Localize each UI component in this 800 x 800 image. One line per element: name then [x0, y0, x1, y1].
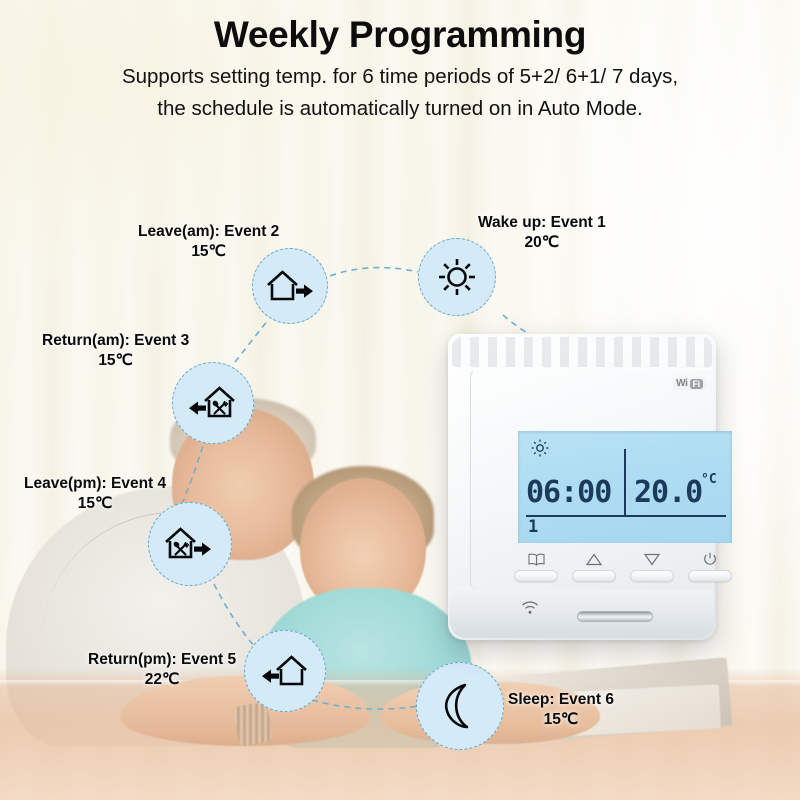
wifi-signal-icon — [521, 601, 539, 620]
wifi-badge-wi: Wi — [676, 378, 688, 389]
connector-e3-e2 — [235, 320, 268, 362]
event-label-text: Leave(pm): Event 4 — [24, 475, 166, 492]
promo-image-root: Weekly Programming Supports setting temp… — [0, 0, 800, 800]
page-subtitle-line-2: the schedule is automatically turned on … — [0, 93, 800, 124]
header-block: Weekly Programming Supports setting temp… — [0, 14, 800, 124]
indicator-slot — [577, 611, 653, 622]
connector-e5-e6 — [312, 700, 418, 709]
event-label-text: Return(pm): Event 5 — [88, 651, 236, 668]
thermostat-device: Wi Fi — [448, 334, 716, 640]
lcd-time-value: 06:00 — [526, 475, 611, 510]
moon-icon — [438, 682, 482, 730]
lcd-temperature-unit: °C — [701, 472, 717, 487]
connector-e2-e1 — [320, 268, 418, 280]
sun-icon — [531, 439, 549, 457]
up-key[interactable] — [572, 570, 616, 582]
thermostat-top-bezel — [452, 337, 712, 367]
house-arrow-right-icon — [263, 266, 317, 306]
lcd-temperature-value: 20.0 — [634, 475, 702, 510]
event-label-return-am: Return(am): Event 3 15℃ — [42, 331, 189, 371]
event-label-return-pm: Return(pm): Event 5 22℃ — [88, 650, 236, 690]
event-label-leave-am: Leave(am): Event 2 15℃ — [138, 222, 279, 262]
event-node-leave-pm[interactable] — [148, 502, 232, 586]
event-temperature: 15℃ — [42, 351, 189, 371]
page-subtitle-line-1: Supports setting temp. for 6 time period… — [0, 61, 800, 92]
event-node-return-pm[interactable] — [244, 630, 326, 712]
lcd-underline — [526, 515, 726, 517]
event-label-text: Sleep: Event 6 — [508, 691, 614, 708]
menu-button[interactable] — [513, 551, 559, 582]
event-label-leave-pm: Leave(pm): Event 4 15℃ — [24, 474, 166, 514]
power-button[interactable] — [687, 551, 733, 582]
thermostat-faceplate: Wi Fi — [470, 368, 714, 590]
lcd-day-indicator: 1 — [528, 517, 538, 537]
triangle-down-icon — [629, 551, 675, 567]
up-button[interactable] — [571, 551, 617, 582]
down-key[interactable] — [630, 570, 674, 582]
power-icon — [687, 551, 733, 567]
wifi-badge-fi: Fi — [690, 379, 703, 389]
event-node-return-am[interactable] — [172, 362, 254, 444]
event-label-wake-up: Wake up: Event 1 20℃ — [478, 213, 606, 253]
sun-icon — [437, 257, 477, 297]
triangle-up-icon — [571, 551, 617, 567]
wifi-badge: Wi Fi — [673, 377, 706, 390]
house-meal-arrow-right-icon — [161, 523, 219, 565]
menu-key[interactable] — [514, 570, 558, 582]
house-meal-arrow-left-icon — [184, 382, 242, 424]
book-icon — [513, 551, 559, 567]
house-arrow-left-icon — [257, 651, 313, 691]
event-temperature: 15℃ — [508, 710, 614, 730]
event-label-text: Wake up: Event 1 — [478, 214, 606, 231]
lcd-screen: 06:00 20.0 °C 1 — [518, 431, 732, 543]
event-label-text: Return(am): Event 3 — [42, 332, 189, 349]
event-temperature: 20℃ — [478, 233, 606, 253]
event-temperature: 22℃ — [88, 670, 236, 690]
event-node-sleep[interactable] — [416, 662, 504, 750]
button-row — [513, 551, 735, 597]
event-label-text: Leave(am): Event 2 — [138, 223, 279, 240]
page-title: Weekly Programming — [0, 14, 800, 55]
event-temperature: 15℃ — [24, 494, 166, 514]
event-label-sleep: Sleep: Event 6 15℃ — [508, 690, 614, 730]
lcd-divider — [624, 449, 626, 515]
event-temperature: 15℃ — [138, 242, 279, 262]
power-key[interactable] — [688, 570, 732, 582]
down-button[interactable] — [629, 551, 675, 582]
